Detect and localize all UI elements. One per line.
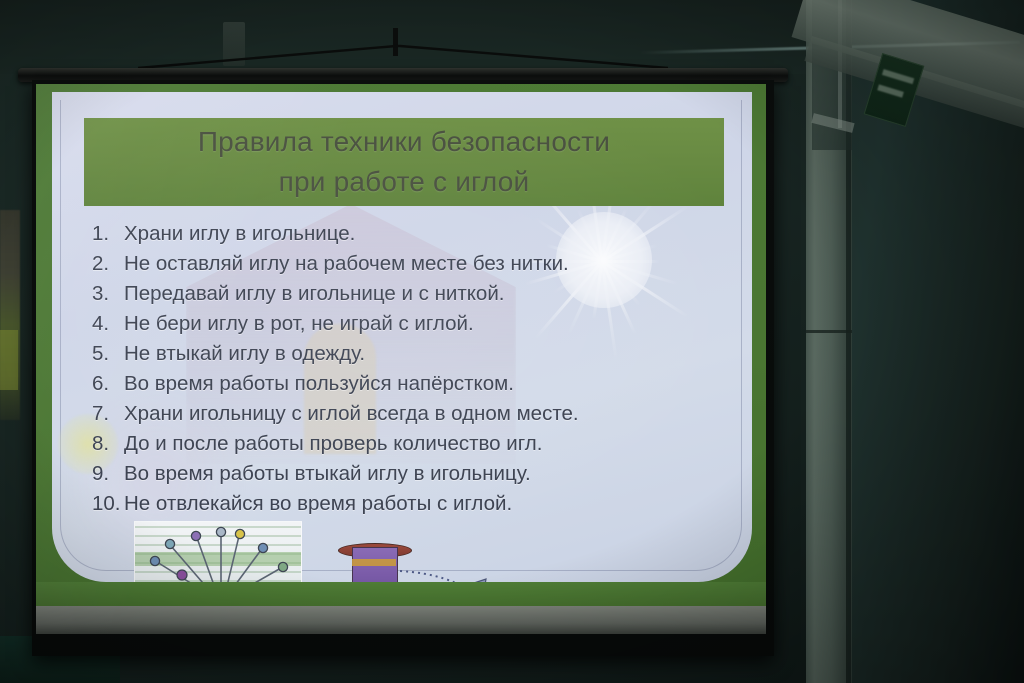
safety-rule-text: Не отвлекайся во время работы с иглой. — [124, 492, 722, 516]
safety-rule-text: Передавай иглу в игольнице и с ниткой. — [124, 282, 722, 306]
safety-rule-number: 4. — [92, 312, 124, 336]
safety-rule-number: 9. — [92, 462, 124, 486]
wall-poster-band — [0, 330, 18, 390]
safety-rule-item: 3.Передавай иглу в игольнице и с ниткой. — [92, 282, 722, 312]
slide-bottom-green-band — [36, 582, 766, 606]
safety-rule-text: Не бери иглу в рот, не играй с иглой. — [124, 312, 722, 336]
safety-rule-number: 6. — [92, 372, 124, 396]
screen-lower-strip — [36, 606, 766, 634]
pillar-seam — [806, 330, 852, 333]
safety-rules-list: 1.Храни иглу в игольнице.2.Не оставляй и… — [92, 222, 722, 522]
safety-rule-item: 8.До и после работы проверь количество и… — [92, 432, 722, 462]
safety-rule-item: 6.Во время работы пользуйся напёрстком. — [92, 372, 722, 402]
slide-title-line-1: Правила техники безопасности — [198, 122, 610, 162]
safety-rule-number: 2. — [92, 252, 124, 276]
projection-screen: Правила техники безопасности при работе … — [18, 62, 788, 662]
safety-rule-item: 5.Не втыкай иглу в одежду. — [92, 342, 722, 372]
safety-rule-text: Не оставляй иглу на рабочем месте без ни… — [124, 252, 722, 276]
screen-hanging-wire — [138, 44, 668, 70]
safety-rule-number: 8. — [92, 432, 124, 456]
plaque-text-line-1 — [882, 69, 914, 84]
slide-title-band: Правила техники безопасности при работе … — [84, 118, 724, 206]
safety-rule-number: 7. — [92, 402, 124, 426]
safety-rule-item: 2.Не оставляй иглу на рабочем месте без … — [92, 252, 722, 282]
presentation-slide: Правила техники безопасности при работе … — [36, 84, 766, 606]
safety-rule-text: Храни иглу в игольнице. — [124, 222, 722, 246]
slide-title-line-2: при работе с иглой — [279, 162, 530, 202]
safety-rule-number: 3. — [92, 282, 124, 306]
safety-rule-text: Во время работы пользуйся напёрстком. — [124, 372, 722, 396]
safety-rule-item: 1.Храни иглу в игольнице. — [92, 222, 722, 252]
safety-rule-text: До и после работы проверь количество игл… — [124, 432, 722, 456]
screen-housing: Правила техники безопасности при работе … — [32, 80, 774, 656]
safety-rule-number: 10. — [92, 492, 124, 516]
photo-scene: Правила техники безопасности при работе … — [0, 0, 1024, 683]
safety-rule-item: 10.Не отвлекайся во время работы с иглой… — [92, 492, 722, 522]
safety-rule-item: 7.Храни игольницу с иглой всегда в одном… — [92, 402, 722, 432]
screen-surface: Правила техники безопасности при работе … — [36, 84, 766, 634]
safety-rule-text: Храни игольницу с иглой всегда в одном м… — [124, 402, 722, 426]
plaque-text-line-2 — [877, 84, 904, 97]
safety-rule-number: 1. — [92, 222, 124, 246]
safety-rule-text: Не втыкай иглу в одежду. — [124, 342, 722, 366]
safety-rule-text: Во время работы втыкай иглу в игольницу. — [124, 462, 722, 486]
safety-rule-item: 4.Не бери иглу в рот, не играй с иглой. — [92, 312, 722, 342]
safety-rule-number: 5. — [92, 342, 124, 366]
safety-rule-item: 9.Во время работы втыкай иглу в игольниц… — [92, 462, 722, 492]
